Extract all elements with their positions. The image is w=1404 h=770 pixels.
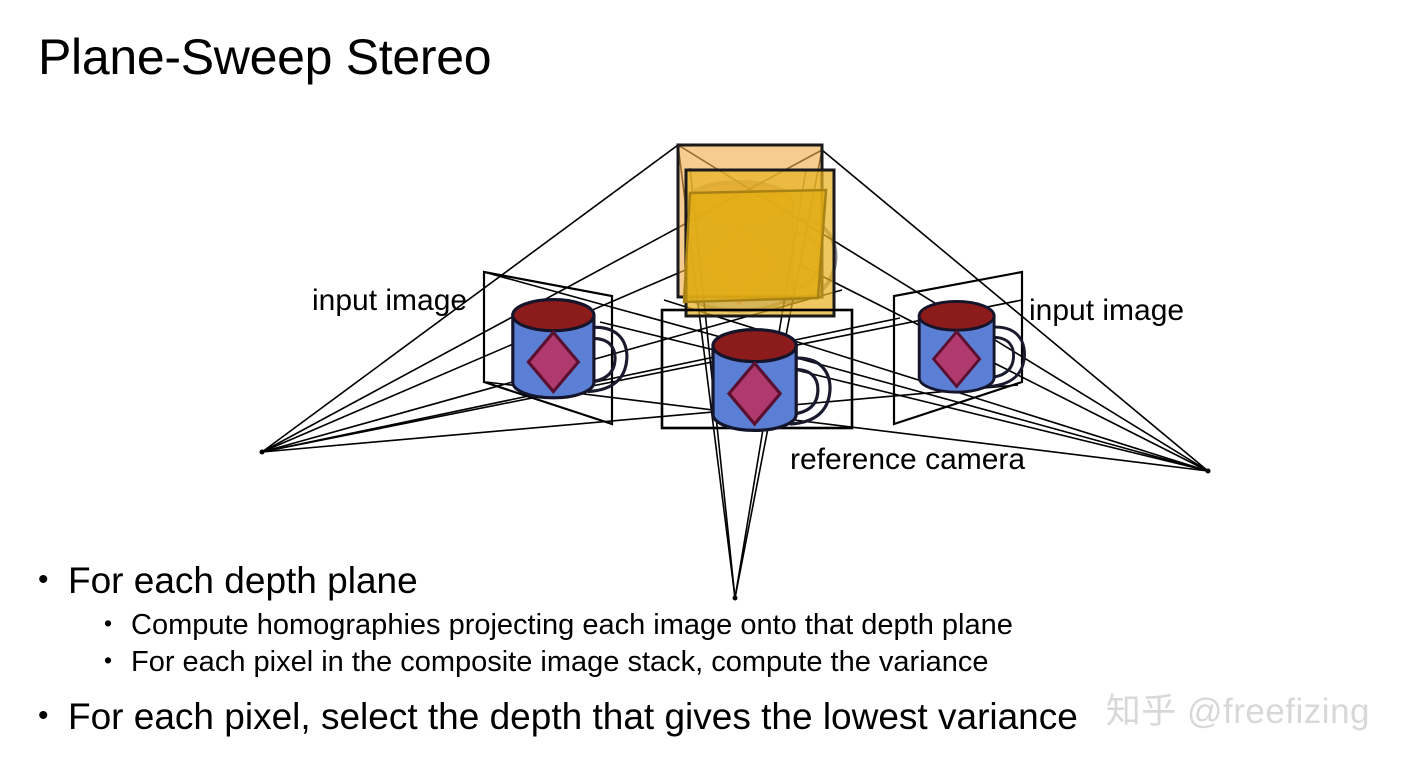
bullet-sublist: • Compute homographies projecting each i… — [38, 608, 1368, 680]
watermark: 知乎 @freefizing — [1106, 694, 1370, 730]
slide-canvas: Plane-Sweep Stereo — [0, 0, 1404, 770]
label-input-image-left: input image — [312, 286, 467, 316]
label-input-image-right: input image — [1029, 296, 1184, 326]
bullet-text: Compute homographies projecting each ima… — [131, 608, 1013, 643]
bullet-marker: • — [38, 696, 68, 735]
depth-plane-middle — [686, 170, 834, 316]
scene-object-mug — [686, 182, 835, 311]
bullet-item-compute-homographies: • Compute homographies projecting each i… — [38, 608, 1368, 643]
bullet-text: For each pixel, select the depth that gi… — [68, 696, 1078, 737]
left-camera-center — [260, 450, 265, 455]
watermark-handle: @freefizing — [1187, 692, 1370, 731]
depth-plane-front — [684, 190, 826, 302]
bullet-text: For each pixel in the composite image st… — [131, 645, 989, 680]
bullet-marker: • — [104, 608, 131, 639]
bullet-marker: • — [38, 560, 68, 599]
bullet-text: For each depth plane — [68, 560, 418, 601]
reference-image-plane — [662, 310, 852, 430]
input-image-plane-left — [484, 272, 627, 424]
depth-plane-back — [678, 145, 822, 297]
page-title: Plane-Sweep Stereo — [38, 31, 491, 84]
bullet-marker: • — [104, 645, 131, 676]
viewing-rays — [262, 145, 1208, 598]
input-image-plane-right — [894, 272, 1025, 424]
label-reference-camera: reference camera — [790, 445, 1025, 475]
bullet-item-depth-plane: • For each depth plane — [38, 560, 1368, 601]
right-camera-center — [1206, 469, 1211, 474]
zhihu-logo-text: 知乎 — [1106, 692, 1177, 732]
bullet-item-compute-variance: • For each pixel in the composite image … — [38, 645, 1368, 680]
